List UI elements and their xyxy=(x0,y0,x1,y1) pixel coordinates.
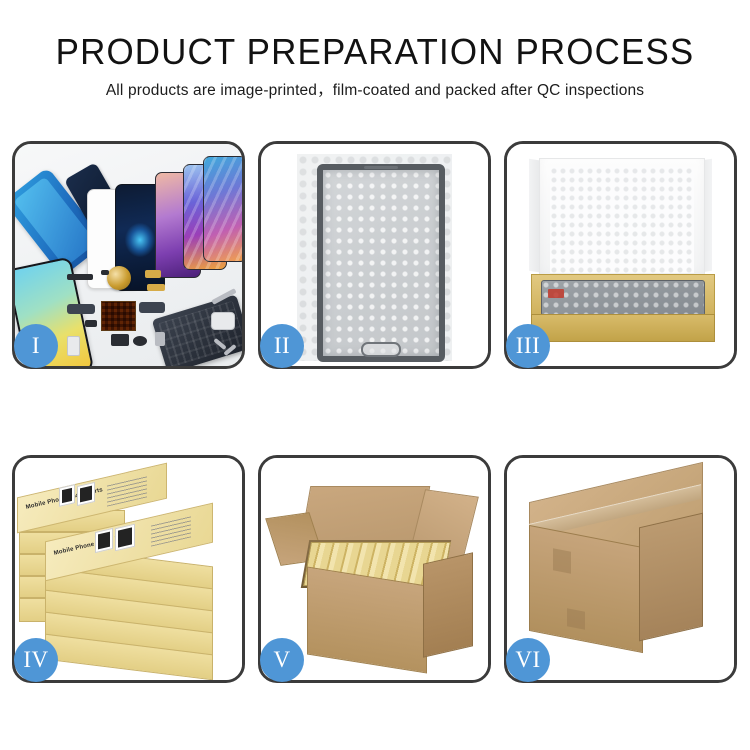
speaker-mesh-part xyxy=(67,274,93,280)
flex-cable-part xyxy=(67,304,95,314)
box-screen-image xyxy=(95,528,113,553)
phone-logic-board xyxy=(152,294,242,366)
step-badge-2: II xyxy=(260,324,304,368)
button-part xyxy=(85,320,97,327)
camera-module-part xyxy=(111,334,129,346)
sealed-carton-side xyxy=(639,513,703,642)
carton-side-face xyxy=(423,552,473,658)
step-badge-5: V xyxy=(260,638,304,682)
steps-grid: I II III xyxy=(12,141,738,683)
copper-coil-part xyxy=(107,266,131,290)
step-panel-3: III xyxy=(504,141,737,369)
sim-tray-part xyxy=(67,336,80,356)
step-panel-6: VI xyxy=(504,455,737,683)
step-badge-3: III xyxy=(506,324,550,368)
wrapped-screen-assembly xyxy=(317,164,445,362)
tool-head-part xyxy=(211,312,235,330)
box-screen-image xyxy=(77,482,95,506)
step-panel-1: I xyxy=(12,141,245,369)
kraft-box-front xyxy=(531,314,715,342)
sealed-carton-front xyxy=(529,525,643,653)
gold-connector-part xyxy=(147,284,165,291)
step-panel-4: Mobile Phone Spare Parts Mobile Phone Sp… xyxy=(12,455,245,683)
speaker-part xyxy=(133,336,147,346)
small-ic-part xyxy=(101,270,109,275)
page-subtitle: All products are image-printed，film-coat… xyxy=(0,83,750,99)
step-badge-4: IV xyxy=(14,638,58,682)
carton-corner-tab xyxy=(553,548,571,573)
carton-front-face xyxy=(307,566,427,673)
gold-flex-part xyxy=(145,270,161,278)
white-foam-liner xyxy=(539,158,705,282)
header: PRODUCT PREPARATION PROCESS All products… xyxy=(0,0,750,99)
carton-bottom-tab xyxy=(567,608,585,629)
page-title: PRODUCT PREPARATION PROCESS xyxy=(11,34,739,70)
carton-back-flap xyxy=(300,486,431,546)
box-screen-image xyxy=(115,524,135,552)
product-preparation-infographic: PRODUCT PREPARATION PROCESS All products… xyxy=(0,0,750,750)
striped-display-phone xyxy=(203,156,242,262)
volume-flex-part xyxy=(139,302,165,313)
box-screen-image xyxy=(59,484,75,507)
step-badge-1: I xyxy=(14,324,58,368)
packed-screen-in-box xyxy=(541,280,705,316)
step-panel-2: II xyxy=(258,141,491,369)
connector-chip-grid xyxy=(101,301,136,331)
step-badge-6: VI xyxy=(506,638,550,682)
step-panel-5: V xyxy=(258,455,491,683)
vibrator-part xyxy=(155,332,165,346)
